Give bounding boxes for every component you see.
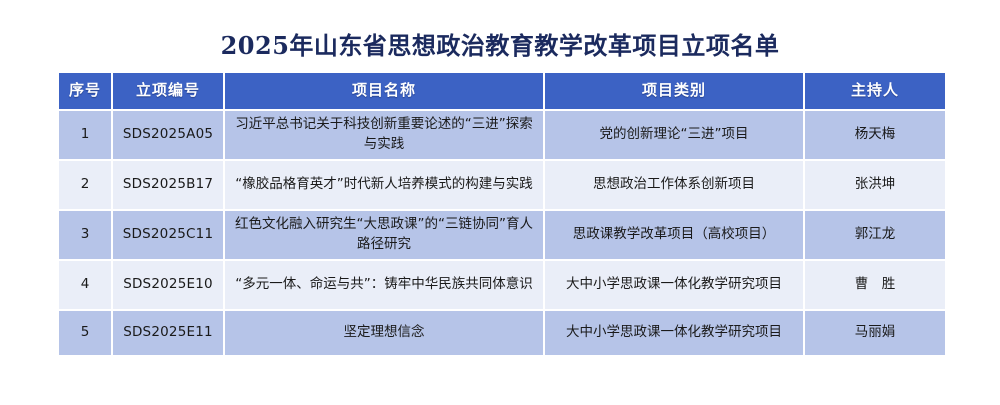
cell-seq: 2 [59, 161, 111, 209]
table-row: 2 SDS2025B17 “橡胶品格育英才”时代新人培养模式的构建与实践 思想政… [59, 161, 945, 209]
cell-code: SDS2025E10 [113, 261, 223, 309]
cell-name: 习近平总书记关于科技创新重要论述的“三进”探索与实践 [225, 111, 543, 159]
project-list-table: 序号 立项编号 项目名称 项目类别 主持人 1 SDS2025A05 习近平总书… [57, 71, 947, 357]
cell-seq: 4 [59, 261, 111, 309]
cell-code: SDS2025B17 [113, 161, 223, 209]
cell-category: 思想政治工作体系创新项目 [545, 161, 803, 209]
cell-name: “多元一体、命运与共”：铸牢中华民族共同体意识 [225, 261, 543, 309]
column-header-category: 项目类别 [545, 73, 803, 109]
column-header-name: 项目名称 [225, 73, 543, 109]
cell-seq: 1 [59, 111, 111, 159]
cell-host: 马丽娟 [805, 311, 945, 355]
column-header-seq: 序号 [59, 73, 111, 109]
cell-code: SDS2025A05 [113, 111, 223, 159]
table-row: 4 SDS2025E10 “多元一体、命运与共”：铸牢中华民族共同体意识 大中小… [59, 261, 945, 309]
table-row: 5 SDS2025E11 坚定理想信念 大中小学思政课一体化教学研究项目 马丽娟 [59, 311, 945, 355]
table-row: 1 SDS2025A05 习近平总书记关于科技创新重要论述的“三进”探索与实践 … [59, 111, 945, 159]
cell-host: 张洪坤 [805, 161, 945, 209]
column-header-code: 立项编号 [113, 73, 223, 109]
cell-category: 思政课教学改革项目（高校项目） [545, 211, 803, 259]
table-header-row: 序号 立项编号 项目名称 项目类别 主持人 [59, 73, 945, 109]
table-row: 3 SDS2025C11 红色文化融入研究生“大思政课”的“三链协同”育人路径研… [59, 211, 945, 259]
table-header: 序号 立项编号 项目名称 项目类别 主持人 [59, 73, 945, 109]
column-header-host: 主持人 [805, 73, 945, 109]
cell-host: 郭江龙 [805, 211, 945, 259]
cell-seq: 5 [59, 311, 111, 355]
cell-category: 大中小学思政课一体化教学研究项目 [545, 311, 803, 355]
cell-category: 党的创新理论“三进”项目 [545, 111, 803, 159]
cell-category: 大中小学思政课一体化教学研究项目 [545, 261, 803, 309]
document-page: 2025年山东省思想政治教育教学改革项目立项名单 序号 立项编号 项目名称 项目… [0, 0, 1000, 405]
cell-name: 红色文化融入研究生“大思政课”的“三链协同”育人路径研究 [225, 211, 543, 259]
page-title: 2025年山东省思想政治教育教学改革项目立项名单 [0, 26, 1000, 61]
cell-name: 坚定理想信念 [225, 311, 543, 355]
project-list-table-container: 序号 立项编号 项目名称 项目类别 主持人 1 SDS2025A05 习近平总书… [57, 71, 945, 357]
cell-host: 曹 胜 [805, 261, 945, 309]
cell-name: “橡胶品格育英才”时代新人培养模式的构建与实践 [225, 161, 543, 209]
cell-code: SDS2025C11 [113, 211, 223, 259]
table-body: 1 SDS2025A05 习近平总书记关于科技创新重要论述的“三进”探索与实践 … [59, 111, 945, 355]
cell-code: SDS2025E11 [113, 311, 223, 355]
cell-seq: 3 [59, 211, 111, 259]
cell-host: 杨天梅 [805, 111, 945, 159]
